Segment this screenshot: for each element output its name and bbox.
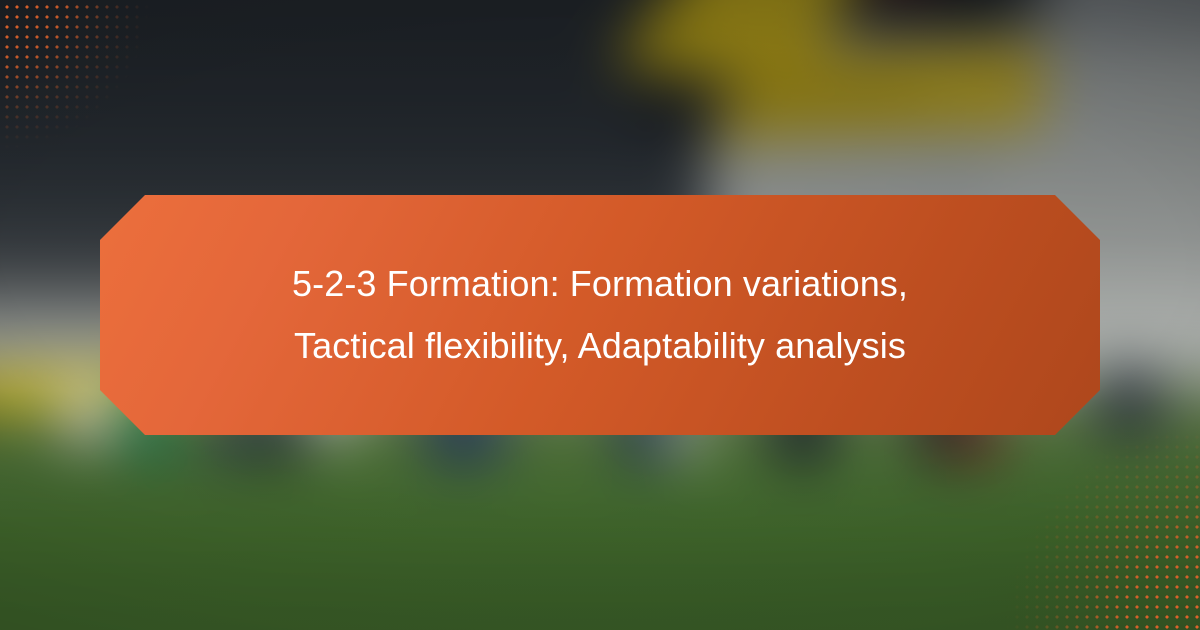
page-title-line-1: 5-2-3 Formation: Formation variations, [292, 253, 908, 315]
page-title-line-2: Tactical flexibility, Adaptability analy… [292, 315, 908, 377]
title-card: 5-2-3 Formation: Formation variations, T… [100, 195, 1100, 435]
page-title: 5-2-3 Formation: Formation variations, T… [292, 253, 908, 377]
social-card-canvas: 5-2-3 Formation: Formation variations, T… [0, 0, 1200, 630]
halftone-dots-top-left-icon [0, 0, 170, 170]
halftone-dots-bottom-right-icon [1000, 420, 1200, 630]
